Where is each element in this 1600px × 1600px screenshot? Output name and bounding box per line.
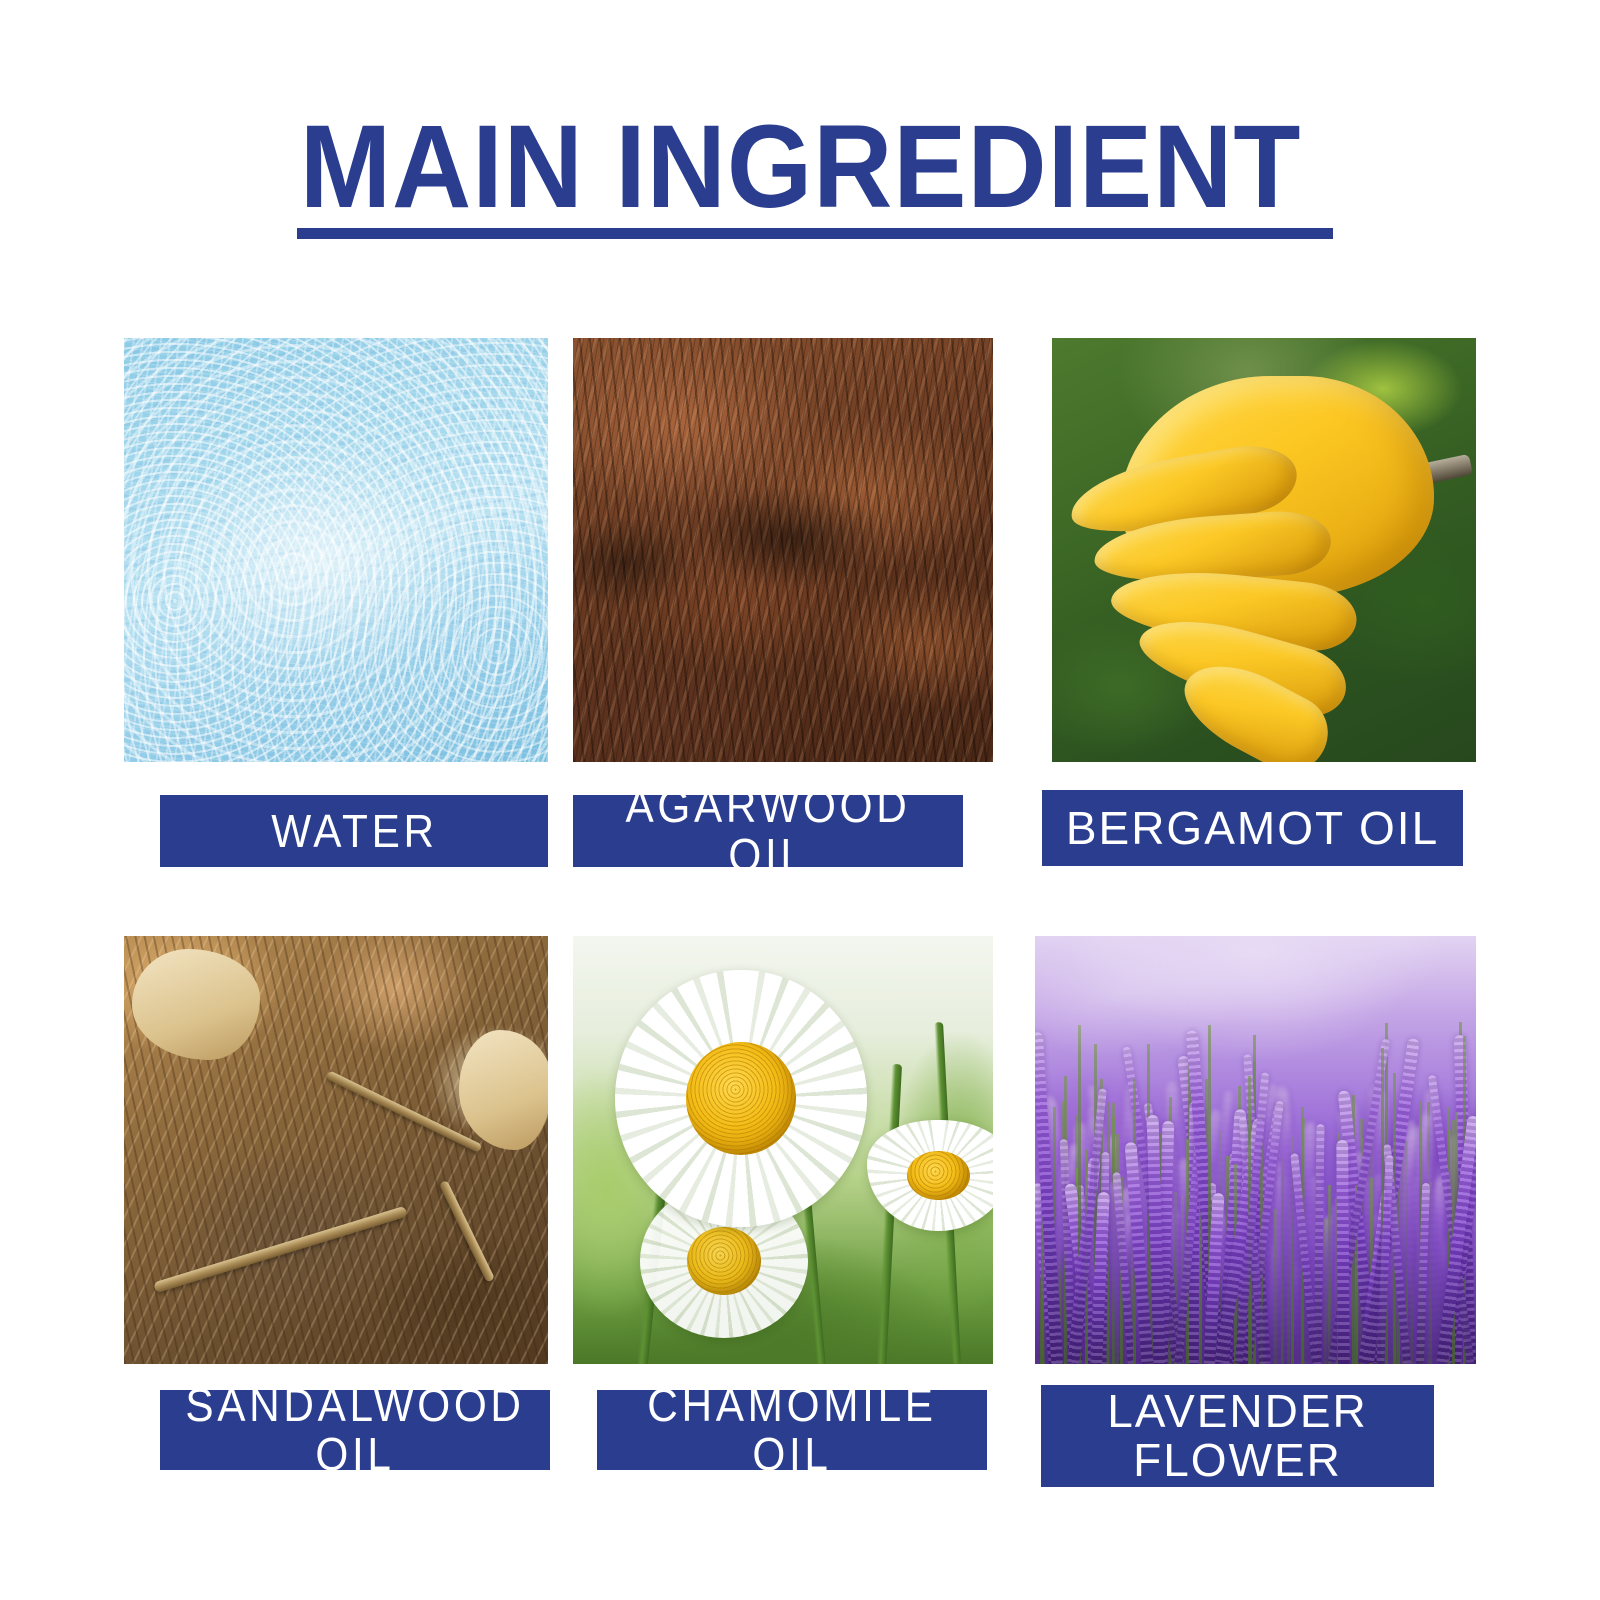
ingredient-label-water: WATER	[271, 807, 438, 856]
daisy-center	[907, 1151, 970, 1200]
agarwood-photo	[573, 338, 993, 762]
water-photo	[124, 338, 548, 762]
agarwood-texture	[573, 338, 993, 762]
ingredient-card-water[interactable]	[124, 338, 548, 762]
label-bar-chamomile: CHAMOMILE OIL	[597, 1390, 987, 1470]
ingredient-card-agarwood[interactable]	[573, 338, 993, 762]
ingredient-label-chamomile: CHAMOMILE OIL	[613, 1381, 972, 1479]
label-bar-agarwood: AGARWOOD OIL	[573, 795, 963, 867]
ingredient-row-2	[0, 936, 1600, 1364]
daisy-flower	[867, 1120, 993, 1231]
label-bar-bergamot: BERGAMOT OIL	[1042, 790, 1463, 866]
label-bar-sandalwood: SANDALWOOD OIL	[160, 1390, 550, 1470]
title-underline-rule	[297, 228, 1333, 239]
ingredient-card-bergamot[interactable]	[1052, 338, 1476, 762]
bergamot-photo	[1052, 338, 1476, 762]
ingredient-label-agarwood: AGARWOOD OIL	[589, 782, 948, 880]
ingredient-row-1	[0, 338, 1600, 762]
label-bar-water: WATER	[160, 795, 548, 867]
lavender-spikes	[1035, 936, 1476, 1364]
ingredient-infographic: MAIN INGREDIENT	[0, 0, 1600, 1600]
label-bar-lavender: LAVENDER FLOWER	[1041, 1385, 1434, 1487]
daisy-flower	[615, 970, 867, 1227]
ingredient-card-chamomile[interactable]	[573, 936, 993, 1364]
page-title-block: MAIN INGREDIENT	[0, 108, 1600, 226]
ingredient-card-lavender[interactable]	[1035, 936, 1476, 1364]
ingredient-label-lavender: LAVENDER FLOWER	[1107, 1387, 1368, 1485]
lavender-spike	[1337, 1140, 1351, 1364]
daisy-center	[686, 1042, 797, 1155]
ingredient-label-bergamot: BERGAMOT OIL	[1066, 804, 1439, 853]
chamomile-photo	[573, 936, 993, 1364]
ingredient-card-sandalwood[interactable]	[124, 936, 548, 1364]
daisy-center	[687, 1227, 761, 1295]
ingredient-label-sandalwood: SANDALWOOD OIL	[176, 1381, 535, 1479]
lavender-photo	[1035, 936, 1476, 1364]
water-texture	[124, 338, 548, 762]
sandalwood-photo	[124, 936, 548, 1364]
page-title: MAIN INGREDIENT	[299, 108, 1301, 226]
